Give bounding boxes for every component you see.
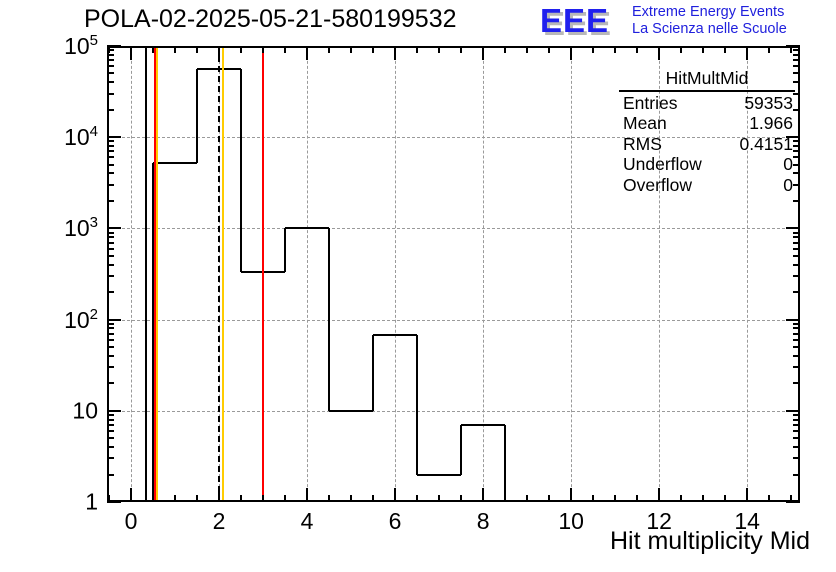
x-tick-minor xyxy=(636,495,638,502)
x-tick-major xyxy=(658,488,660,502)
y-tick-minor xyxy=(107,72,114,74)
stats-value: 0.4151 xyxy=(739,134,793,155)
y-tick-label: 103 xyxy=(18,215,98,243)
x-tick-minor xyxy=(328,495,330,502)
y-tick-minor xyxy=(107,355,114,357)
y-tick-label: 10 xyxy=(18,397,98,424)
y-tick-minor-right xyxy=(793,339,800,341)
x-tick-minor-top xyxy=(152,46,154,53)
y-tick-minor-right xyxy=(793,327,800,329)
y-tick-minor xyxy=(107,145,114,147)
x-tick-major-top xyxy=(394,46,396,60)
y-tick-minor-right xyxy=(793,264,800,266)
x-tick-major-top xyxy=(218,46,220,60)
y-tick-minor xyxy=(107,430,114,432)
y-tick-minor xyxy=(107,346,114,348)
stats-label: Mean xyxy=(623,113,667,134)
x-tick-major-top xyxy=(658,46,660,60)
y-tick-major-right xyxy=(786,319,800,321)
y-tick-minor xyxy=(107,232,114,234)
y-tick-minor-right xyxy=(793,275,800,277)
stats-label: RMS xyxy=(623,134,662,155)
y-tick-minor-right xyxy=(793,59,800,61)
stats-label: Entries xyxy=(623,93,677,114)
y-tick-minor-right xyxy=(793,323,800,325)
stats-label: Underflow xyxy=(623,154,702,175)
x-tick-minor-top xyxy=(328,46,330,53)
stats-box: HitMultMid Entries59353Mean1.966RMS0.415… xyxy=(617,68,797,195)
y-tick-minor xyxy=(107,65,114,67)
x-tick-major xyxy=(130,488,132,502)
x-tick-minor xyxy=(504,495,506,502)
y-tick-label: 105 xyxy=(18,32,98,60)
y-tick-minor-right xyxy=(793,414,800,416)
y-tick-minor xyxy=(107,424,114,426)
eee-logo: EEE Extreme Energy Events La Scienza nel… xyxy=(540,3,830,39)
y-tick-minor xyxy=(107,81,114,83)
y-tick-minor xyxy=(107,474,114,476)
x-tick-minor-top xyxy=(724,46,726,53)
y-tick-minor xyxy=(107,323,114,325)
x-tick-minor-top xyxy=(614,46,616,53)
y-tick-major-right xyxy=(786,410,800,412)
stats-value: 0 xyxy=(783,154,793,175)
y-tick-minor-right xyxy=(793,242,800,244)
x-axis-title: Hit multiplicity Mid xyxy=(610,527,810,556)
x-tick-minor-top xyxy=(262,46,264,53)
x-tick-minor-top xyxy=(680,46,682,53)
y-tick-minor-right xyxy=(793,248,800,250)
y-tick-minor xyxy=(107,172,114,174)
y-tick-minor xyxy=(107,414,114,416)
y-tick-minor-right xyxy=(793,54,800,56)
y-tick-minor xyxy=(107,109,114,111)
y-tick-minor-right xyxy=(793,355,800,357)
y-tick-minor xyxy=(107,93,114,95)
x-tick-minor xyxy=(526,495,528,502)
y-tick-minor xyxy=(107,59,114,61)
y-tick-minor-right xyxy=(793,236,800,238)
x-tick-major-top xyxy=(306,46,308,60)
x-tick-minor-top xyxy=(372,46,374,53)
x-tick-minor-top xyxy=(240,46,242,53)
y-tick-minor-right xyxy=(793,291,800,293)
x-tick-major xyxy=(394,488,396,502)
stats-rule xyxy=(619,90,795,92)
y-tick-minor xyxy=(107,437,114,439)
y-tick-minor xyxy=(107,150,114,152)
x-tick-minor xyxy=(350,495,352,502)
x-tick-major xyxy=(306,488,308,502)
y-tick-minor-right xyxy=(793,446,800,448)
y-tick-minor xyxy=(107,382,114,384)
y-tick-minor-right xyxy=(793,346,800,348)
eee-logo-line1: Extreme Energy Events xyxy=(632,4,787,21)
eee-logo-text: Extreme Energy Events La Scienza nelle S… xyxy=(632,4,787,38)
x-tick-minor-top xyxy=(174,46,176,53)
x-tick-label: 10 xyxy=(558,508,584,535)
x-tick-minor xyxy=(240,495,242,502)
x-tick-minor-top xyxy=(702,46,704,53)
stats-row: Mean1.966 xyxy=(617,113,797,134)
x-tick-minor-top xyxy=(548,46,550,53)
x-tick-minor xyxy=(768,495,770,502)
y-tick-minor-right xyxy=(793,430,800,432)
y-tick-minor xyxy=(107,156,114,158)
x-tick-minor xyxy=(460,495,462,502)
eee-logo-mark: EEE xyxy=(540,4,609,37)
x-tick-major-top xyxy=(482,46,484,60)
x-tick-label: 2 xyxy=(213,508,226,535)
x-tick-minor-top xyxy=(416,46,418,53)
stats-row: Overflow0 xyxy=(617,175,797,196)
y-tick-minor xyxy=(107,200,114,202)
y-tick-minor xyxy=(107,49,114,51)
y-tick-major-right xyxy=(786,227,800,229)
y-tick-minor xyxy=(107,184,114,186)
y-tick-major xyxy=(107,136,121,138)
y-tick-minor xyxy=(107,242,114,244)
x-tick-minor-top xyxy=(284,46,286,53)
y-tick-major xyxy=(107,319,121,321)
y-tick-major-right xyxy=(786,501,800,503)
x-tick-minor xyxy=(372,495,374,502)
x-tick-major-top xyxy=(746,46,748,60)
y-tick-major xyxy=(107,227,121,229)
x-tick-major xyxy=(570,488,572,502)
y-tick-minor-right xyxy=(793,382,800,384)
x-tick-minor-top xyxy=(636,46,638,53)
x-tick-minor-top xyxy=(768,46,770,53)
stats-title: HitMultMid xyxy=(617,68,797,90)
x-tick-major-top xyxy=(570,46,572,60)
x-tick-minor xyxy=(196,495,198,502)
x-tick-minor xyxy=(152,495,154,502)
root-canvas: POLA-02-2025-05-21-580199532 EEE Extreme… xyxy=(0,0,836,572)
y-tick-label: 102 xyxy=(18,306,98,334)
x-tick-minor-top xyxy=(526,46,528,53)
y-tick-minor-right xyxy=(793,232,800,234)
y-tick-minor-right xyxy=(793,419,800,421)
x-tick-minor-top xyxy=(438,46,440,53)
x-tick-minor xyxy=(614,495,616,502)
x-tick-minor xyxy=(724,495,726,502)
y-tick-minor xyxy=(107,275,114,277)
y-tick-minor-right xyxy=(793,255,800,257)
y-tick-minor xyxy=(107,236,114,238)
page-title: POLA-02-2025-05-21-580199532 xyxy=(84,5,457,34)
x-tick-minor-top xyxy=(460,46,462,53)
x-tick-major xyxy=(482,488,484,502)
x-tick-minor-top xyxy=(592,46,594,53)
x-tick-minor-top xyxy=(350,46,352,53)
y-tick-minor-right xyxy=(793,424,800,426)
y-tick-major-right xyxy=(786,45,800,47)
y-tick-minor xyxy=(107,327,114,329)
stats-row: Entries59353 xyxy=(617,93,797,114)
x-tick-minor-top xyxy=(790,46,792,53)
stats-value: 59353 xyxy=(744,93,793,114)
x-tick-minor xyxy=(284,495,286,502)
y-tick-minor-right xyxy=(793,49,800,51)
x-tick-minor-top xyxy=(196,46,198,53)
x-tick-major xyxy=(746,488,748,502)
eee-logo-line2: La Scienza nelle Scuole xyxy=(632,21,787,38)
x-tick-minor xyxy=(416,495,418,502)
x-tick-label: 6 xyxy=(389,508,402,535)
x-tick-minor xyxy=(592,495,594,502)
y-tick-minor-right xyxy=(793,474,800,476)
y-tick-minor-right xyxy=(793,65,800,67)
stats-value: 0 xyxy=(783,175,793,196)
x-tick-label: 4 xyxy=(301,508,314,535)
x-tick-minor xyxy=(680,495,682,502)
stats-value: 1.966 xyxy=(749,113,793,134)
x-tick-minor xyxy=(262,495,264,502)
x-tick-minor xyxy=(548,495,550,502)
y-tick-minor xyxy=(107,333,114,335)
y-tick-minor-right xyxy=(793,437,800,439)
x-tick-minor xyxy=(174,495,176,502)
x-tick-minor xyxy=(438,495,440,502)
y-tick-minor-right xyxy=(793,200,800,202)
stats-row: Underflow0 xyxy=(617,154,797,175)
y-tick-minor xyxy=(107,457,114,459)
y-tick-minor xyxy=(107,339,114,341)
y-tick-major xyxy=(107,501,121,503)
y-tick-minor-right xyxy=(793,366,800,368)
y-tick-minor xyxy=(107,255,114,257)
y-tick-label: 104 xyxy=(18,123,98,151)
y-tick-minor xyxy=(107,164,114,166)
y-tick-minor xyxy=(107,248,114,250)
x-tick-major xyxy=(218,488,220,502)
x-tick-label: 0 xyxy=(125,508,138,535)
x-tick-label: 8 xyxy=(477,508,490,535)
x-tick-minor-top xyxy=(504,46,506,53)
y-tick-major xyxy=(107,410,121,412)
stats-rows: Entries59353Mean1.966RMS0.4151Underflow0… xyxy=(617,93,797,196)
y-tick-minor xyxy=(107,446,114,448)
y-tick-minor xyxy=(107,140,114,142)
y-tick-minor xyxy=(107,419,114,421)
y-tick-minor xyxy=(107,54,114,56)
y-tick-major xyxy=(107,45,121,47)
stats-label: Overflow xyxy=(623,175,692,196)
y-tick-minor-right xyxy=(793,333,800,335)
y-tick-minor-right xyxy=(793,457,800,459)
y-tick-minor xyxy=(107,264,114,266)
x-tick-major-top xyxy=(130,46,132,60)
x-tick-minor xyxy=(702,495,704,502)
y-tick-minor xyxy=(107,366,114,368)
y-tick-minor xyxy=(107,291,114,293)
stats-row: RMS0.4151 xyxy=(617,134,797,155)
y-tick-label: 1 xyxy=(18,489,98,516)
